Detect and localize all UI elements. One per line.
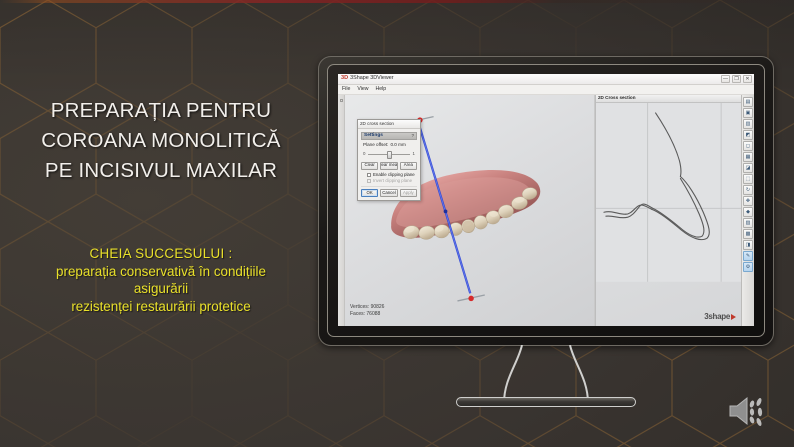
menu-item-view[interactable]: View (357, 87, 368, 92)
cross-section-panel-titlebar: 2D Cross section (596, 95, 741, 103)
application-window: 3D 3Shape 3DViewer — ❐ ✕ File View Help (338, 74, 754, 326)
color-icon[interactable]: ◩ (743, 130, 753, 140)
work-area: 2D cross section Settings ? Plane offset… (338, 95, 754, 326)
slider-max-label: 1 (413, 152, 415, 156)
page-title: PREPARAȚIA PENTRU COROANA MONOLITICĂ PE … (8, 96, 314, 186)
open-file-icon[interactable]: ▤ (743, 97, 753, 107)
subtitle-line-3: asigurării (6, 280, 316, 298)
window-title: 3Shape 3DViewer (350, 76, 393, 81)
window-titlebar: 3D 3Shape 3DViewer — ❐ ✕ (338, 74, 754, 85)
help-icon[interactable]: ? (411, 134, 414, 139)
slider-thumb[interactable] (387, 151, 392, 159)
clear-button[interactable]: Clear (361, 162, 378, 170)
viewport-left-rail (338, 95, 345, 326)
top-accent-line (0, 0, 794, 3)
invert-clipping-plane-row: Invert clipping plane (367, 179, 417, 183)
print-icon[interactable]: ▥ (743, 119, 753, 129)
plane-offset-value: 0.0 mm (390, 143, 405, 148)
slider-min-label: 0 (363, 152, 365, 156)
apply-button[interactable]: Apply (400, 189, 417, 197)
slide-canvas: PREPARAȚIA PENTRU COROANA MONOLITICĂ PE … (0, 0, 794, 447)
grid-icon[interactable]: ▩ (743, 229, 753, 239)
title-line-2: COROANA MONOLITICĂ (8, 126, 314, 156)
rail-handle-icon[interactable] (340, 99, 343, 102)
dialog-title: 2D cross section (360, 122, 394, 127)
monitor-stand-base (456, 397, 636, 407)
model-statistics: Vertices: 90826 Faces: 76088 (350, 304, 384, 318)
measure-icon[interactable]: ◆ (743, 207, 753, 217)
close-button[interactable]: ✕ (743, 75, 752, 83)
vertices-count: Vertices: 90826 (350, 304, 384, 311)
enable-clipping-plane-checkbox[interactable] (367, 173, 371, 177)
settings-icon[interactable]: ⚙ (743, 262, 753, 272)
cross-section-panel: 2D Cross section (595, 95, 741, 326)
subtitle-line-2: preparația conservativă în condițiile (6, 263, 316, 281)
view-side-icon[interactable]: ◪ (743, 163, 753, 173)
audio-speaker-icon[interactable] (726, 393, 772, 429)
monitor-stand-neck (492, 345, 600, 403)
dialog-footer-buttons: OK Cancel Apply (361, 186, 417, 197)
minimize-button[interactable]: — (721, 75, 730, 83)
cross-section-dialog[interactable]: 2D cross section Settings ? Plane offset… (357, 119, 421, 201)
view-top-icon[interactable]: ▦ (743, 152, 753, 162)
right-toolbar: ▤ ▣ ▥ ◩ ◻ ▦ ◪ ⬚ ↻ ✥ ◆ ▨ ▩ ◨ ✎ (741, 95, 754, 326)
invert-clipping-plane-checkbox (367, 179, 371, 183)
settings-group-header: Settings ? (361, 132, 417, 140)
save-icon[interactable]: ▣ (743, 108, 753, 118)
annotate-icon[interactable]: ▨ (743, 218, 753, 228)
monitor-screen: 3D 3Shape 3DViewer — ❐ ✕ File View Help (338, 74, 754, 326)
subtitle-line-4: rezistenței restaurării protetice (6, 298, 316, 316)
cross-section-profile-plot[interactable] (596, 103, 741, 282)
enable-clipping-plane-row[interactable]: Enable clipping plane (367, 173, 417, 177)
app-logo-icon: 3D (341, 76, 348, 82)
faces-count: Faces: 76088 (350, 311, 384, 318)
plane-offset-slider[interactable]: 0 1 (363, 151, 415, 159)
cancel-button[interactable]: Cancel (380, 189, 397, 197)
dialog-body: Settings ? Plane offset: 0.0 mm 0 (358, 129, 420, 200)
cross-section-panel-title: 2D Cross section (598, 96, 636, 101)
subtitle-line-1: CHEIA SUCCESULUI : (6, 245, 316, 263)
viewport-3d[interactable]: 2D cross section Settings ? Plane offset… (338, 95, 595, 326)
view-front-icon[interactable]: ◻ (743, 141, 753, 151)
section-handle-bottom (457, 295, 484, 301)
clear-measurements-button[interactable]: Clear meas. (380, 162, 397, 170)
title-line-1: PREPARAȚIA PENTRU (8, 96, 314, 126)
3shape-logo: 3shape (704, 313, 736, 321)
menu-bar: File View Help (338, 85, 754, 95)
dialog-titlebar: 2D cross section (358, 120, 420, 129)
menu-item-file[interactable]: File (342, 87, 350, 92)
subtitle-block: CHEIA SUCCESULUI : preparația conservati… (6, 245, 316, 315)
3shape-logo-text: 3shape (704, 313, 730, 321)
settings-group-label: Settings (364, 134, 383, 139)
window-controls: — ❐ ✕ (721, 75, 752, 83)
zoom-fit-icon[interactable]: ⬚ (743, 174, 753, 184)
pan-icon[interactable]: ✥ (743, 196, 753, 206)
monitor-illustration: 3D 3Shape 3DViewer — ❐ ✕ File View Help (318, 56, 774, 346)
rotate-icon[interactable]: ↻ (743, 185, 753, 195)
3shape-logo-triangle-icon (731, 314, 736, 320)
maximize-button[interactable]: ❐ (732, 75, 741, 83)
area-button[interactable]: Area (400, 162, 417, 170)
plane-offset-label: Plane offset: (363, 143, 388, 148)
title-line-3: PE INCISIVUL MAXILAR (8, 156, 314, 186)
ok-button[interactable]: OK (361, 189, 378, 197)
cross-section-icon[interactable]: ✎ (743, 251, 753, 261)
enable-clipping-plane-label: Enable clipping plane (373, 173, 415, 177)
plane-offset-row: Plane offset: 0.0 mm (361, 143, 417, 148)
menu-item-help[interactable]: Help (376, 87, 387, 92)
dialog-action-buttons: Clear Clear meas. Area (361, 162, 417, 170)
cut-plane-icon[interactable]: ◨ (743, 240, 753, 250)
invert-clipping-plane-label: Invert clipping plane (373, 179, 412, 183)
